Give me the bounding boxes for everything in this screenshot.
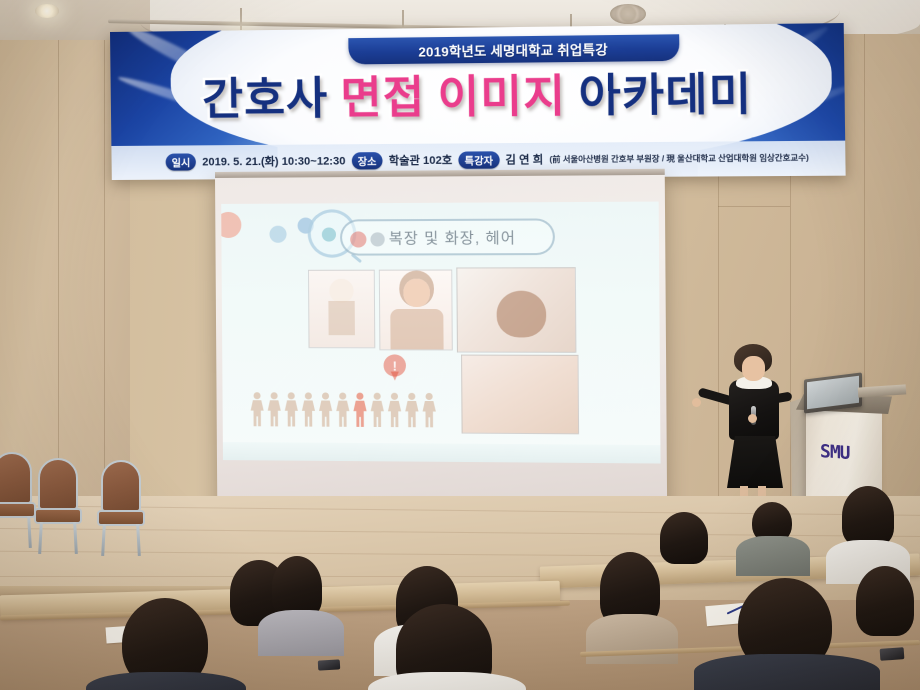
lecturer-face [742, 356, 765, 381]
person-body [302, 400, 315, 426]
slide-icon-orange [221, 212, 241, 238]
place-value: 학술관 102호 [389, 152, 453, 169]
audience-shoulders [736, 536, 810, 576]
date-label-pill: 일시 [166, 153, 197, 170]
slide-title-text: 복장 및 화장, 헤어 [389, 226, 516, 248]
audience-head [272, 556, 322, 618]
desk-phone [318, 659, 340, 670]
person-icon [371, 393, 384, 427]
lecturer-hand-left [692, 398, 701, 407]
audience-shoulders-foreground [694, 654, 880, 690]
person-icon [319, 392, 332, 426]
place-label-pill: 장소 [351, 152, 382, 169]
audience-shoulders [586, 614, 678, 664]
people-icon-row [250, 386, 443, 427]
stage-chair-3 [97, 460, 145, 556]
slide-icon-blue-1 [269, 226, 286, 243]
banner-title-word-1: 간호사 [202, 77, 329, 122]
warning-pin-glyph: ! [392, 359, 397, 372]
person-icon [405, 393, 418, 427]
chair-back [101, 460, 141, 512]
person-head [408, 393, 415, 400]
warning-pin-icon: ! [383, 354, 406, 376]
desk-phone [880, 647, 905, 661]
person-icon-highlighted [353, 393, 366, 427]
chair-leg [136, 524, 141, 556]
person-icon [268, 392, 281, 426]
banner-title-word-3: 이미지 [437, 74, 566, 120]
person-head [426, 393, 433, 400]
chair-back [0, 452, 32, 504]
audience-shoulders [258, 610, 344, 656]
projection-screen: 복장 및 화장, 헤어 ! [215, 173, 667, 526]
chair-back [38, 458, 78, 510]
slide-title-dot-gray [370, 232, 384, 246]
person-body [353, 401, 366, 427]
banner-title: 간호사 면접 이미지 아카데미 [138, 62, 819, 131]
person-body [423, 401, 436, 427]
chair-leg [27, 516, 32, 548]
ceiling-vent-1 [610, 4, 646, 24]
lecturer-hand-right [748, 414, 757, 423]
audience-shoulders-foreground [368, 672, 526, 690]
person-icon [388, 393, 401, 427]
person-body [268, 400, 281, 426]
podium-logo: SMU [820, 441, 850, 464]
speaker-detail: (前 서울아산병원 간호부 부원장 / 現 울산대학교 산업대학원 임상간호교수… [549, 152, 809, 165]
speaker-name: 김 연 희 [505, 151, 543, 168]
person-head [305, 392, 312, 399]
speaker-label-pill: 특강자 [458, 151, 499, 169]
person-icon [285, 392, 298, 426]
person-head [288, 392, 295, 399]
person-head [254, 392, 261, 399]
lamp-rod-1 [240, 8, 242, 32]
wall-seam [104, 40, 105, 510]
slide-title-dot-red [350, 231, 366, 247]
person-body [405, 401, 418, 427]
presentation-slide: 복장 및 화장, 헤어 ! [221, 202, 660, 464]
person-head [322, 392, 329, 399]
person-head [339, 393, 346, 400]
person-body [371, 401, 384, 427]
person-icon [302, 392, 315, 426]
chair-leg [73, 522, 78, 554]
chair-leg [38, 522, 43, 554]
person-icon [422, 393, 436, 427]
person-body [319, 400, 332, 426]
banner-header-text: 2019학년도 세명대학교 취업특강 [418, 39, 608, 60]
banner-title-word-4: 아카데미 [578, 72, 752, 119]
person-head [356, 393, 363, 400]
person-head [391, 393, 398, 400]
slide-icon-teal [322, 227, 336, 241]
wall-seam [58, 40, 59, 510]
audience-head [856, 566, 914, 636]
slide-photo-portrait [379, 270, 453, 351]
person-icon [336, 393, 349, 427]
monitor-screen [807, 376, 859, 409]
audience-head [660, 512, 708, 564]
person-body [285, 400, 298, 426]
event-banner: 2019학년도 세명대학교 취업특강 간호사 면접 이미지 아카데미 일시 20… [110, 23, 846, 180]
person-body [388, 401, 401, 427]
chair-seat [0, 502, 36, 518]
slide-photo-candidates [461, 355, 579, 435]
lecture-hall-photo: 2019학년도 세명대학교 취업특강 간호사 면접 이미지 아카데미 일시 20… [0, 0, 920, 690]
person-head [271, 392, 278, 399]
audience-head [842, 486, 894, 546]
person-body [336, 401, 349, 427]
banner-title-word-2: 면접 [340, 76, 425, 121]
banner-header-bar: 2019학년도 세명대학교 취업특강 [348, 34, 679, 64]
slide-photo-hair [456, 267, 576, 353]
stage-chair-2 [34, 458, 82, 554]
person-body [251, 400, 264, 426]
ceiling-downlight-1 [35, 4, 59, 18]
slide-bottom-strip [223, 442, 661, 463]
lecturer-skirt [727, 436, 783, 488]
wall-seam [718, 206, 790, 207]
stage-chair-1 [0, 452, 36, 548]
audience-shoulders-foreground [86, 672, 246, 690]
date-value: 2019. 5. 21.(화) 10:30~12:30 [202, 152, 345, 169]
podium-monitor [804, 372, 862, 413]
person-head [374, 393, 381, 400]
chair-leg [101, 524, 106, 556]
slide-photo-uniform [308, 270, 375, 349]
slide-title-pill: 복장 및 화장, 헤어 [340, 218, 555, 255]
person-icon [251, 392, 264, 426]
